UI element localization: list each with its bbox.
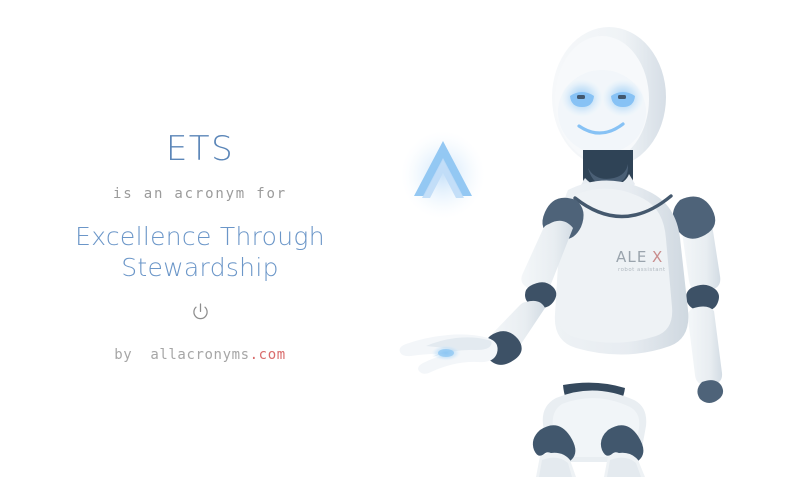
acronym-expansion-line-1: Excellence Through <box>0 221 400 252</box>
power-standby-icon <box>0 301 400 323</box>
robot-head <box>552 27 666 167</box>
byline-prefix: by allacronyms <box>114 347 249 363</box>
acronym-expansion: Excellence Through Stewardship <box>0 221 400 283</box>
page-title: ETS <box>0 129 400 169</box>
double-chevron-up-hologram <box>401 131 485 219</box>
acronym-definition-page: ETS is an acronym for Excellence Through… <box>0 0 801 477</box>
byline-domain-suffix: .com <box>250 347 286 363</box>
acronym-connector-label: is an acronym for <box>0 184 400 204</box>
svg-text:robot assistant: robot assistant <box>618 267 666 273</box>
robot-open-palm <box>400 334 498 373</box>
robot-lower-body <box>533 383 646 477</box>
svg-text:ALE: ALE <box>616 248 647 266</box>
robot-assistant-illustration: ALE X robot assistant <box>380 0 801 477</box>
svg-text:X: X <box>652 248 663 266</box>
acronym-text-column: ETS is an acronym for Excellence Through… <box>0 0 400 477</box>
byline: by allacronyms.com <box>0 345 400 365</box>
robot-left-arm <box>400 198 584 374</box>
robot-chest-logo: ALE X robot assistant <box>616 248 666 273</box>
acronym-expansion-line-2: Stewardship <box>0 252 400 283</box>
